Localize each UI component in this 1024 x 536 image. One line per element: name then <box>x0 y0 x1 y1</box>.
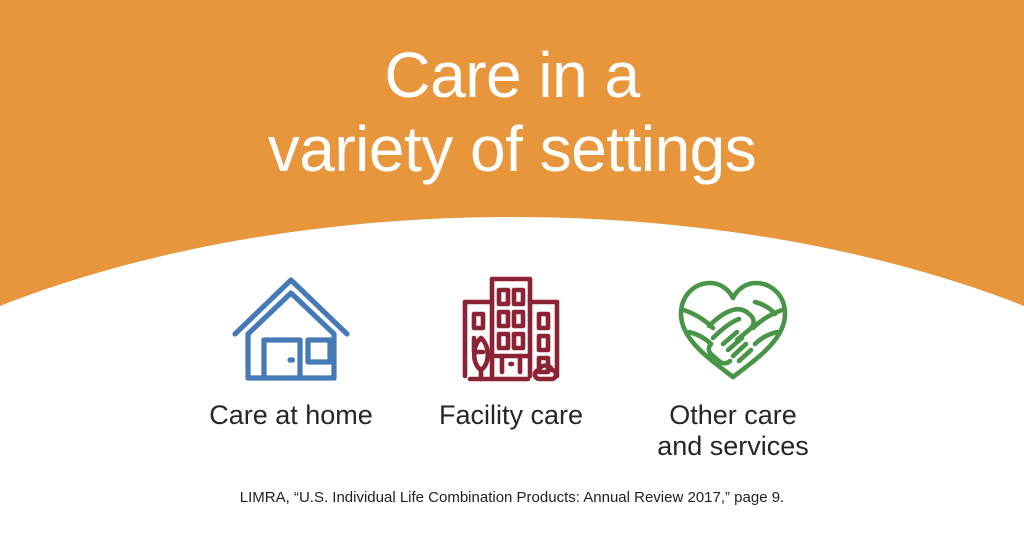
care-settings-row: Care at home <box>0 272 1024 462</box>
care-card-home-label: Care at home <box>209 400 373 431</box>
buildings-icon <box>452 272 570 384</box>
care-card-other-label: Other care and services <box>657 400 809 462</box>
care-card-facility-label: Facility care <box>439 400 583 431</box>
care-card-home[interactable]: Care at home <box>183 272 399 431</box>
care-card-facility[interactable]: Facility care <box>403 272 619 431</box>
page-title: Care in a variety of settings <box>0 38 1024 186</box>
care-card-other[interactable]: Other care and services <box>625 272 841 462</box>
source-footnote: LIMRA, “U.S. Individual Life Combination… <box>0 488 1024 508</box>
handshake-heart-icon <box>675 272 791 384</box>
house-icon <box>232 272 350 384</box>
slide-canvas: Care in a variety of settings <box>0 0 1024 536</box>
